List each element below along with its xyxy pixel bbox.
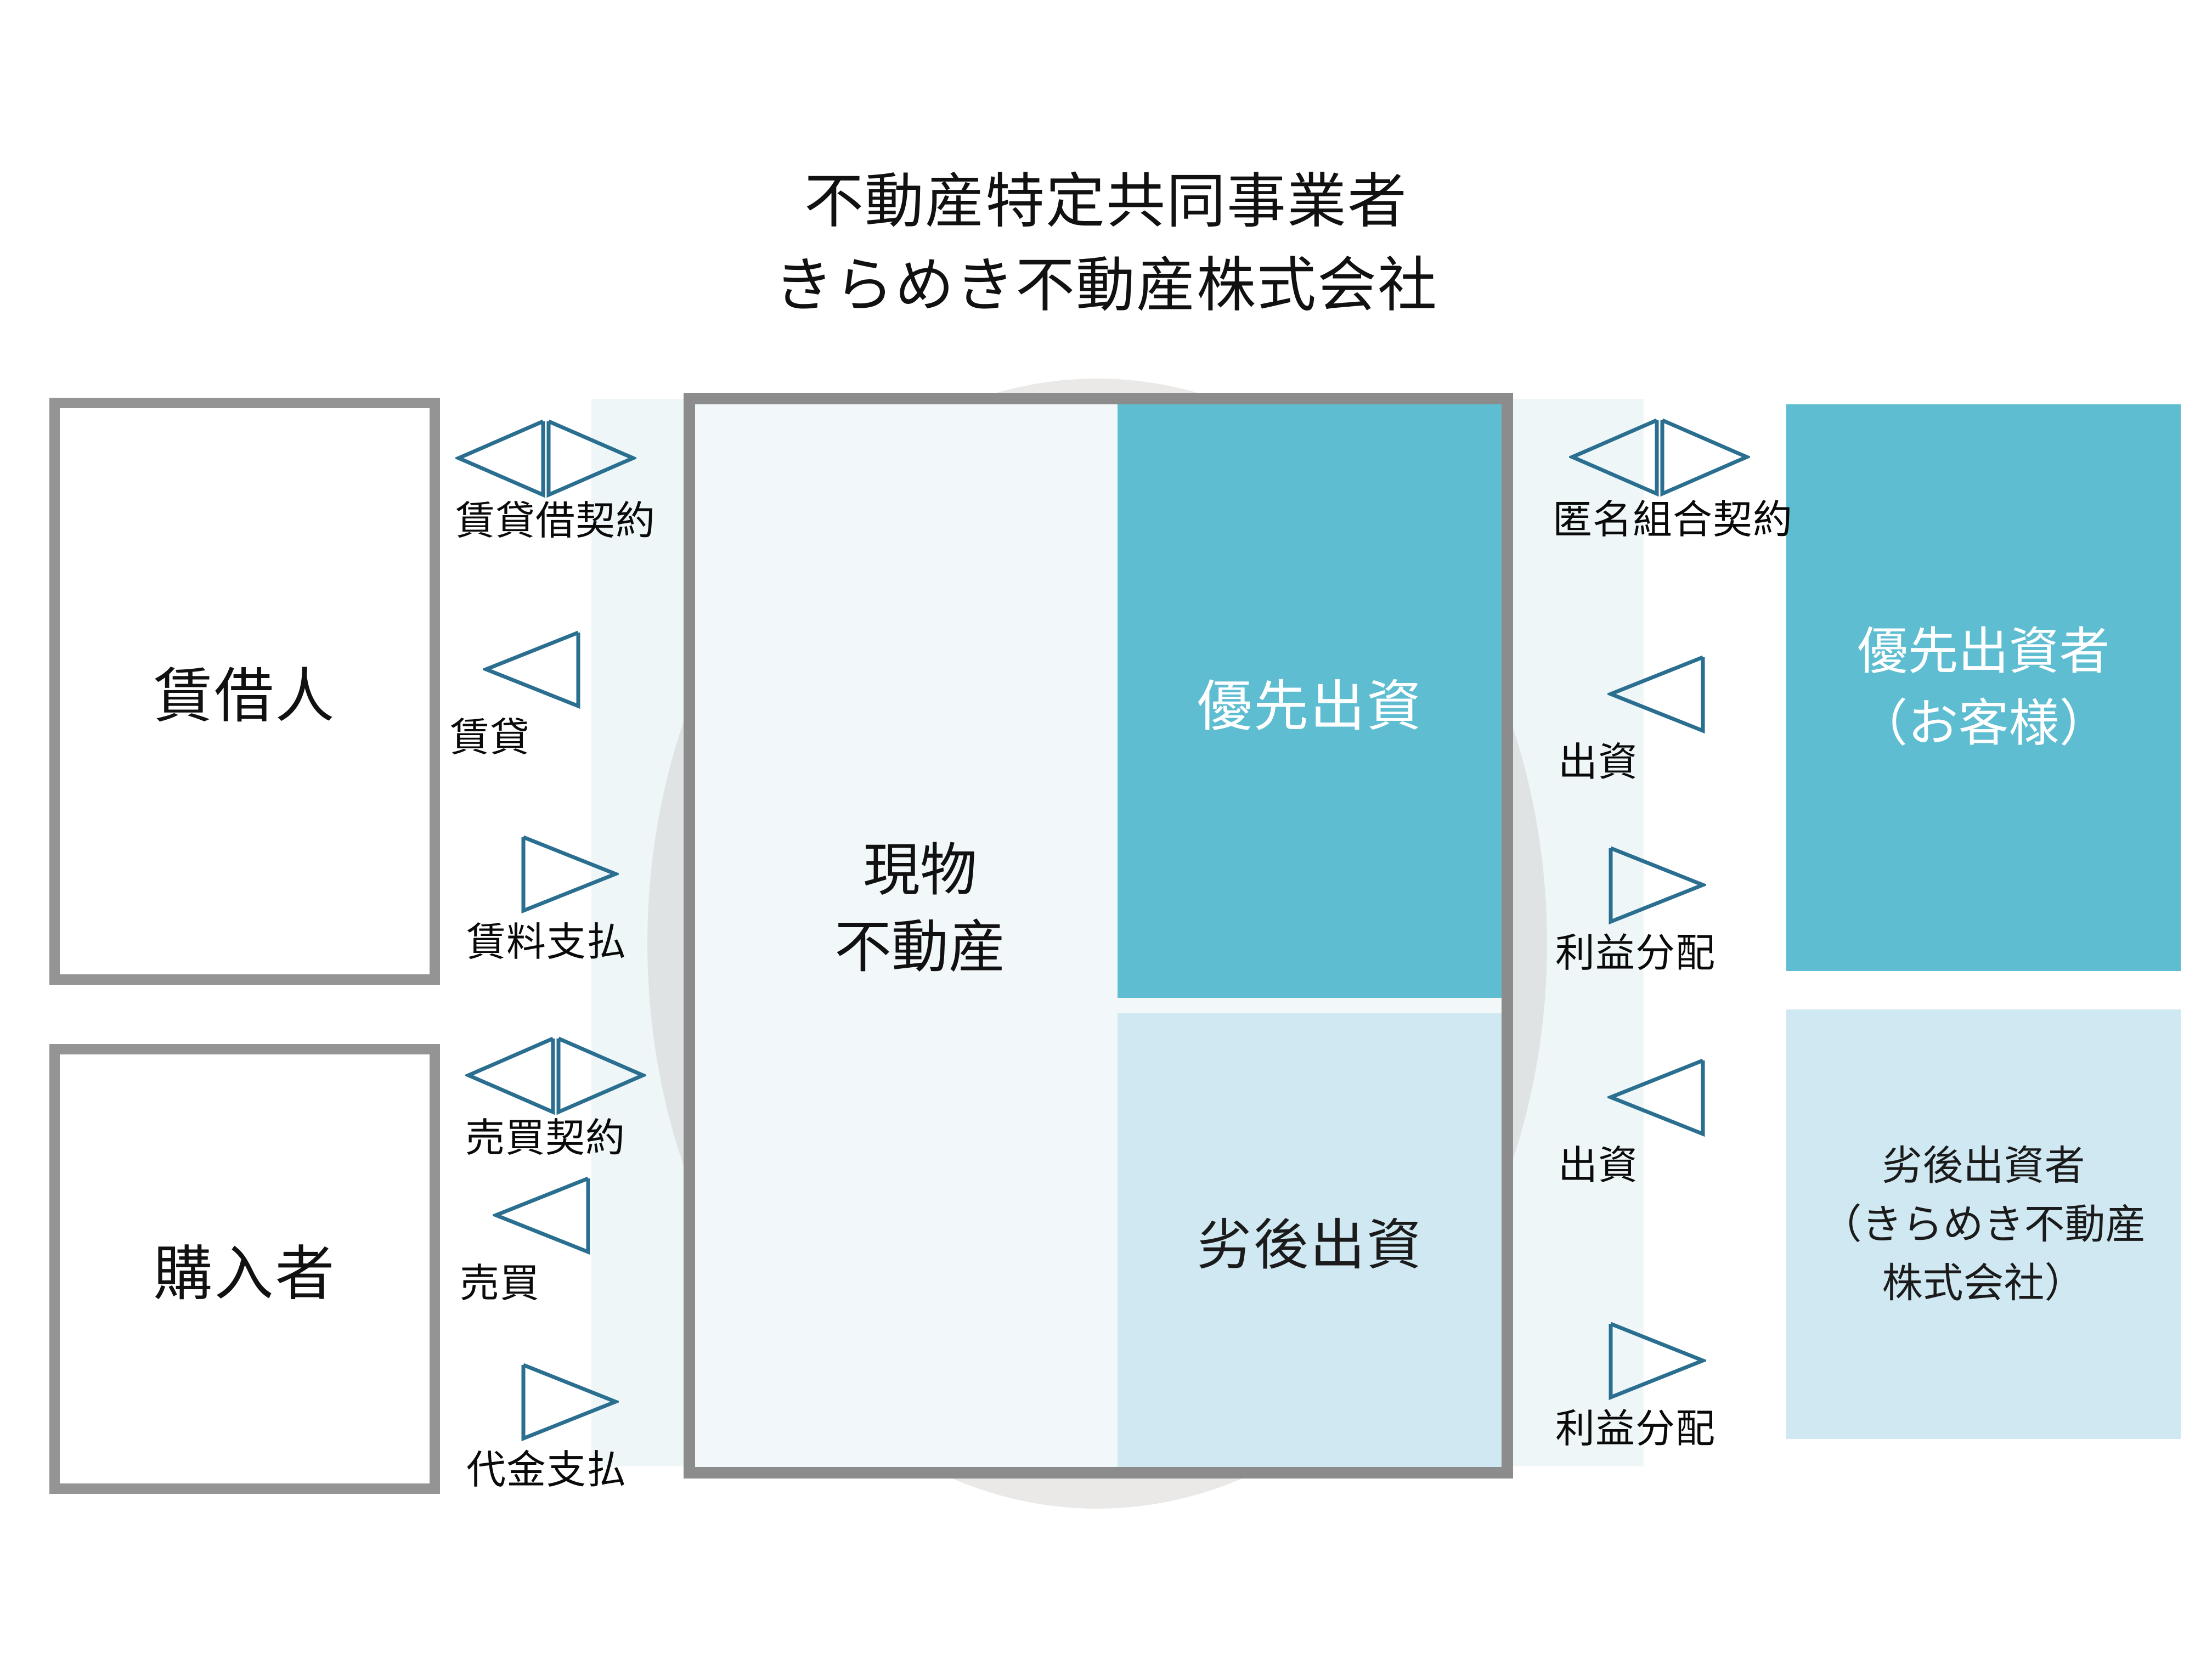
- page-title-line-2: きらめき不動産株式会社: [0, 243, 2212, 327]
- page-title-line-1: 不動産特定共同事業者: [0, 159, 2212, 243]
- flow-sale: 売買: [493, 1174, 591, 1256]
- senior-tranche-block[interactable]: 優先出資: [1118, 404, 1503, 998]
- flow-lease-contract-label: 賃貸借契約: [455, 488, 656, 546]
- arrow-right-icon: [1607, 1319, 1706, 1402]
- flow-tk-contract-label: 匿名組合契約: [1553, 487, 1793, 545]
- flow-rent-payment-label: 賃料支払: [466, 910, 627, 967]
- arrow-right-icon: [520, 1361, 619, 1443]
- arrow-right-icon: [1607, 844, 1706, 926]
- party-label-buyer: 購入者: [153, 1226, 336, 1312]
- physical-real-estate-line-2: 不動産: [717, 909, 1123, 986]
- investor-label-junior: 劣後出資者 （きらめき不動産 株式会社）: [1821, 1136, 2146, 1313]
- junior-tranche-block[interactable]: 劣後出資: [1118, 1013, 1503, 1467]
- investor-label-senior-line-2: （お客様）: [1857, 696, 2109, 752]
- arrow-left-icon: [483, 628, 582, 710]
- flow-profit-senior: 利益分配: [1607, 844, 1706, 926]
- arrow-right-icon: [520, 833, 619, 915]
- operator-asset-box-inner: 現物 不動産 優先出資 劣後出資: [695, 404, 1502, 1467]
- operator-asset-box[interactable]: 現物 不動産 優先出資 劣後出資: [684, 393, 1513, 1479]
- bidirectional-arrow-icon: [1569, 416, 1750, 498]
- flow-sale-contract-label: 売買契約: [465, 1105, 625, 1163]
- party-label-tenant: 賃借人: [153, 648, 336, 734]
- flow-sale-label: 売買: [460, 1251, 540, 1308]
- junior-tranche-label: 劣後出資: [1197, 1200, 1423, 1280]
- flow-investment-junior-label: 出資: [1558, 1133, 1638, 1190]
- flow-investment-junior: 出資: [1607, 1056, 1706, 1138]
- flow-tk-contract: 匿名組合契約: [1569, 416, 1750, 498]
- page-title: 不動産特定共同事業者 きらめき不動産株式会社: [0, 159, 2212, 328]
- flow-profit-junior-label: 利益分配: [1555, 1396, 1716, 1454]
- flow-lease-label: 賃貸: [450, 705, 530, 763]
- flow-investment-senior-label: 出資: [1558, 730, 1638, 787]
- flow-investment-senior: 出資: [1607, 653, 1706, 735]
- party-box-buyer[interactable]: 購入者: [49, 1044, 440, 1494]
- flow-profit-senior-label: 利益分配: [1555, 921, 1716, 978]
- flow-price-payment-label: 代金支払: [466, 1437, 627, 1495]
- bidirectional-arrow-icon: [455, 417, 636, 499]
- party-box-tenant[interactable]: 賃借人: [49, 398, 440, 985]
- investor-box-junior[interactable]: 劣後出資者 （きらめき不動産 株式会社）: [1786, 1009, 2181, 1439]
- flow-rent-payment: 賃料支払: [520, 833, 619, 915]
- flow-lease: 賃貸: [483, 628, 582, 710]
- arrow-left-icon: [1607, 1056, 1706, 1138]
- investor-label-junior-line-2: （きらめき不動産: [1821, 1201, 2146, 1247]
- senior-tranche-label: 優先出資: [1197, 662, 1423, 741]
- investor-label-junior-line-1: 劣後出資者: [1882, 1143, 2085, 1188]
- arrow-left-icon: [493, 1174, 591, 1256]
- investor-label-senior: 優先出資者 （お客様）: [1857, 616, 2109, 759]
- flow-price-payment: 代金支払: [520, 1361, 619, 1443]
- flow-profit-junior: 利益分配: [1607, 1319, 1706, 1402]
- physical-real-estate-line-1: 現物: [717, 832, 1123, 909]
- flow-lease-contract: 賃貸借契約: [455, 417, 636, 499]
- flow-sale-contract: 売買契約: [465, 1034, 646, 1116]
- bidirectional-arrow-icon: [465, 1034, 646, 1116]
- investor-label-senior-line-1: 優先出資者: [1857, 624, 2109, 680]
- investor-label-junior-line-3: 株式会社）: [1882, 1260, 2085, 1306]
- physical-real-estate-label: 現物 不動産: [717, 832, 1123, 986]
- investor-box-senior[interactable]: 優先出資者 （お客様）: [1786, 404, 2181, 971]
- arrow-left-icon: [1607, 653, 1706, 735]
